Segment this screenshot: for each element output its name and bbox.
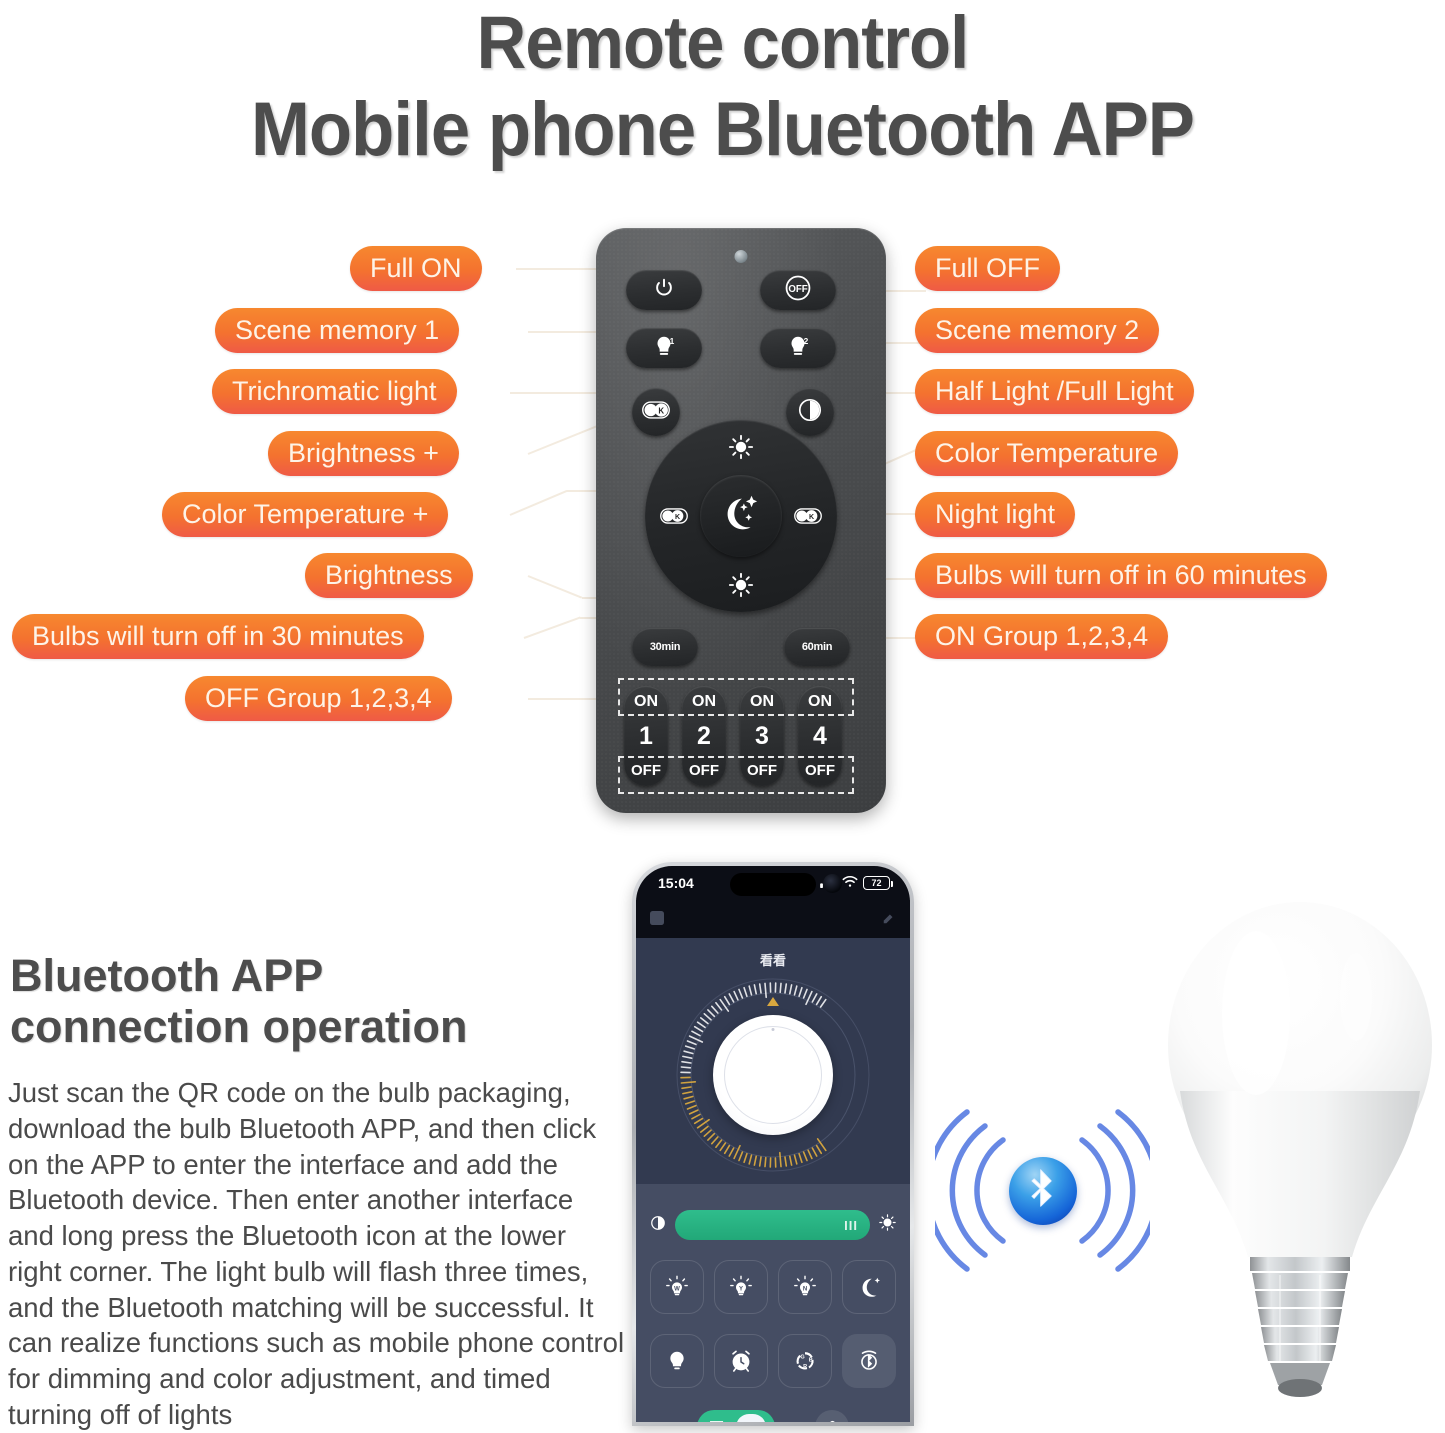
color-temp-down-button[interactable]: K — [793, 507, 823, 525]
headline-line-1: Remote control — [51, 0, 1395, 80]
dpad-control[interactable]: K K — [645, 420, 837, 612]
group-2-off-label: OFF — [689, 762, 719, 779]
dial-pointer — [767, 997, 779, 1006]
scene-memory-2-button[interactable]: 2 — [760, 328, 836, 368]
connector-line — [510, 490, 568, 516]
bulb-neutral-button[interactable]: N — [778, 1260, 832, 1314]
page-headline: Remote control Mobile phone Bluetooth AP… — [0, 0, 1445, 168]
section-heading: Bluetooth APP connection operation — [10, 950, 610, 1053]
power-off-button[interactable]: OFF — [760, 270, 836, 310]
group-1-on-label: ON — [634, 693, 658, 711]
brightness-slider-row: III — [650, 1210, 896, 1240]
power-off-icon: OFF — [783, 273, 813, 308]
group-1-off-label: OFF — [631, 762, 661, 779]
callout-scene-memory-2[interactable]: Scene memory 2 — [915, 308, 1159, 353]
callout-half-full-light[interactable]: Half Light /Full Light — [915, 369, 1194, 414]
scene-memory-1-icon: 1 — [649, 333, 679, 364]
power-on-button[interactable] — [626, 270, 702, 310]
group-3-on-label: ON — [750, 693, 774, 711]
group-4-button[interactable]: ON 4 OFF — [798, 686, 842, 786]
callout-brightness[interactable]: Brightness — [305, 553, 473, 598]
svg-text:K: K — [658, 406, 664, 415]
callout-timer-30[interactable]: Bulbs will turn off in 30 minutes — [12, 614, 424, 659]
callout-full-off[interactable]: Full OFF — [915, 246, 1060, 291]
callout-timer-60[interactable]: Bulbs will turn off in 60 minutes — [915, 553, 1327, 598]
svg-text:Y: Y — [739, 1286, 743, 1292]
group-2-button[interactable]: ON 2 OFF — [682, 686, 726, 786]
half-full-light-button[interactable] — [786, 388, 834, 436]
bulb-yellow-button[interactable]: Y — [714, 1260, 768, 1314]
bluetooth-icon — [1026, 1168, 1060, 1213]
brightness-dial[interactable] — [673, 975, 873, 1175]
timer-60min-button[interactable]: 60min — [784, 628, 850, 666]
section-heading-line-2: connection operation — [10, 1001, 610, 1052]
connector-line — [528, 424, 601, 455]
ir-led-indicator — [735, 250, 748, 263]
callout-night-light[interactable]: Night light — [915, 492, 1075, 537]
bluetooth-sphere — [1009, 1157, 1077, 1225]
moon-stars-icon — [716, 491, 766, 542]
battery-icon: 72 — [863, 876, 890, 890]
group-3-button[interactable]: ON 3 OFF — [740, 686, 784, 786]
svg-text:G: G — [800, 1355, 804, 1361]
trichromatic-light-button[interactable]: K — [632, 388, 680, 436]
night-mode-button[interactable] — [842, 1260, 896, 1314]
scene-button-row-1: W Y N — [650, 1260, 896, 1314]
group-2-number: 2 — [697, 722, 711, 751]
microphone-button[interactable] — [815, 1410, 849, 1422]
brightness-low-icon — [650, 1215, 666, 1236]
svg-text:2: 2 — [804, 336, 809, 346]
callout-color-temp[interactable]: Color Temperature — [915, 431, 1178, 476]
dial-knob[interactable] — [713, 1015, 833, 1135]
callout-color-temp-up[interactable]: Color Temperature + — [162, 492, 448, 537]
svg-text:B: B — [809, 1357, 813, 1363]
section-body-text: Just scan the QR code on the bulb packag… — [8, 1075, 626, 1433]
phone-mockup: 15:04 — [632, 862, 914, 1426]
group-1-button[interactable]: ON 1 OFF — [624, 686, 668, 786]
group-3-number: 3 — [755, 722, 769, 751]
half-light-icon — [797, 397, 823, 428]
callout-brightness-up[interactable]: Brightness + — [268, 431, 459, 476]
power-toggle[interactable]: 开 — [697, 1410, 775, 1422]
control-panel: III W — [636, 1184, 910, 1422]
svg-text:N: N — [803, 1286, 807, 1292]
app-title: 看看 — [636, 950, 910, 969]
phone-notch — [730, 873, 816, 896]
connector-line — [528, 575, 583, 599]
toggle-knob — [736, 1414, 766, 1422]
callout-trichromatic[interactable]: Trichromatic light — [212, 369, 457, 414]
remote-control-body: OFF 1 2 K — [596, 228, 886, 813]
brightness-up-button[interactable] — [728, 434, 754, 460]
status-time: 15:04 — [658, 875, 694, 891]
timer-60min-label: 60min — [802, 641, 832, 653]
svg-text:1: 1 — [670, 336, 675, 346]
group-3-off-label: OFF — [747, 762, 777, 779]
phone-screen: 15:04 — [636, 866, 910, 1422]
brightness-high-icon — [879, 1214, 896, 1236]
bluetooth-signal-badge — [935, 1098, 1150, 1283]
svg-text:OFF: OFF — [788, 283, 807, 294]
group-4-on-label: ON — [808, 693, 832, 711]
group-2-on-label: ON — [692, 693, 716, 711]
kelvin-icon: K — [641, 400, 671, 425]
group-4-off-label: OFF — [805, 762, 835, 779]
svg-text:R: R — [803, 1364, 807, 1370]
phone-camera-lens — [823, 874, 842, 893]
bottom-control-row: 开 — [650, 1410, 896, 1422]
connector-line — [524, 617, 581, 639]
bulb-plain-button[interactable] — [650, 1334, 704, 1388]
section-heading-line-1: Bluetooth APP — [10, 950, 610, 1001]
callout-on-group[interactable]: ON Group 1,2,3,4 — [915, 614, 1168, 659]
rgb-cycle-button[interactable]: G B R — [778, 1334, 832, 1388]
slider-grip: III — [844, 1218, 858, 1233]
menu-icon[interactable] — [650, 911, 664, 928]
group-4-number: 4 — [813, 722, 827, 751]
night-light-button[interactable] — [700, 475, 782, 557]
scene-button-row-2: G B R — [650, 1334, 896, 1388]
callout-scene-memory-1[interactable]: Scene memory 1 — [215, 308, 459, 353]
led-bulb-image — [1160, 895, 1440, 1426]
group-1-number: 1 — [639, 722, 653, 751]
headline-line-2: Mobile phone Bluetooth APP — [51, 80, 1395, 168]
wifi-icon — [842, 875, 858, 891]
brightness-down-button[interactable] — [728, 572, 754, 598]
brightness-slider[interactable]: III — [675, 1210, 870, 1240]
dial-panel: 看看 — [636, 938, 910, 1184]
svg-text:W: W — [674, 1286, 680, 1292]
phone-app-bar — [636, 900, 910, 938]
color-temp-up-button[interactable]: K — [659, 507, 689, 525]
toggle-label: 开 — [709, 1417, 724, 1423]
timer-30min-button[interactable]: 30min — [632, 628, 698, 666]
timer-30min-label: 30min — [650, 641, 680, 653]
callout-off-group[interactable]: OFF Group 1,2,3,4 — [185, 676, 452, 721]
battery-level: 72 — [871, 878, 881, 888]
callout-full-on[interactable]: Full ON — [350, 246, 482, 291]
edit-icon[interactable] — [882, 911, 896, 928]
bulb-warm-white-button[interactable]: W — [650, 1260, 704, 1314]
scene-memory-1-button[interactable]: 1 — [626, 328, 702, 368]
power-on-icon — [653, 277, 675, 304]
bluetooth-broadcast-button[interactable] — [842, 1334, 896, 1388]
alarm-clock-button[interactable] — [714, 1334, 768, 1388]
scene-memory-2-icon: 2 — [783, 333, 813, 364]
